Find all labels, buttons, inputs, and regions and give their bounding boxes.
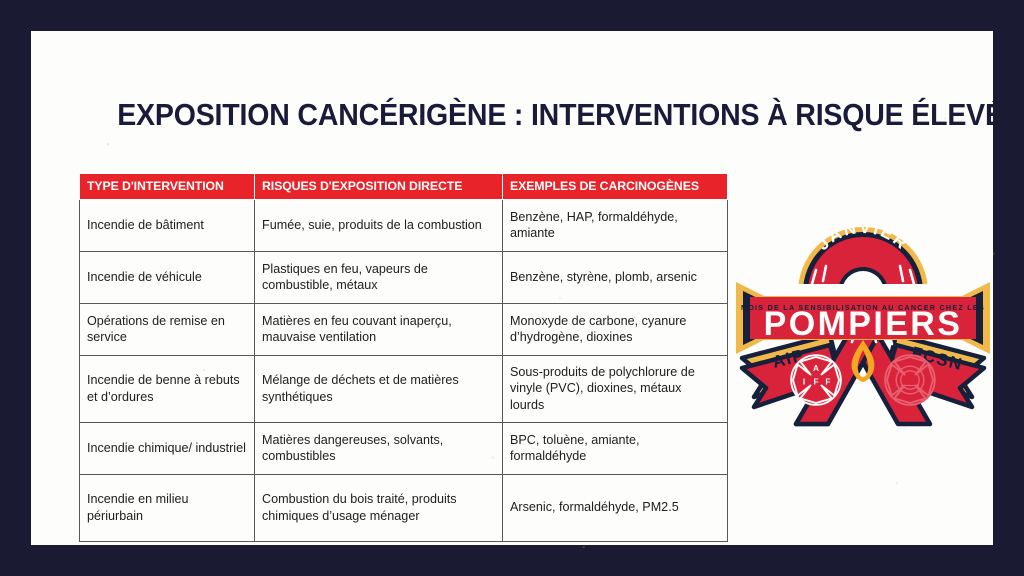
emblem-banner-main-text: POMPIERS — [764, 305, 963, 343]
cell-risques: Mélange de déchets et de matières synthé… — [255, 356, 503, 423]
cell-risques: Matières en feu couvant inaperçu, mauvai… — [255, 304, 503, 356]
cell-exemples: BPC, toluène, amiante, formaldéhyde — [503, 423, 728, 475]
iaff-badge-letter-f2: F — [825, 378, 830, 387]
table-header-row: TYPE D'INTERVENTION RISQUES D'EXPOSITION… — [80, 174, 728, 200]
table-row: Incendie en milieu périurbain Combustion… — [80, 475, 728, 542]
cell-risques: Plastiques en feu, vapeurs de combustibl… — [255, 252, 503, 304]
slide-card: EXPOSITION CANCÉRIGÈNE : INTERVENTIONS À… — [31, 31, 993, 545]
cell-type: Opérations de remise en service — [80, 304, 255, 356]
table-header: TYPE D'INTERVENTION RISQUES D'EXPOSITION… — [80, 174, 728, 200]
iaff-badge-letter-f1: F — [813, 378, 818, 387]
table-body: Incendie de bâtiment Fumée, suie, produi… — [80, 200, 728, 542]
risk-intervention-table: TYPE D'INTERVENTION RISQUES D'EXPOSITION… — [79, 173, 728, 542]
table-row: Opérations de remise en service Matières… — [80, 304, 728, 356]
cell-exemples: Monoxyde de carbone, cyanure d’hydrogène… — [503, 304, 728, 356]
table-row: Incendie de véhicule Plastiques en feu, … — [80, 252, 728, 304]
cell-risques: Combustion du bois traité, produits chim… — [255, 475, 503, 542]
pompiers-cancer-awareness-logo: JANVIER AIP FCSN — [734, 192, 992, 434]
cell-exemples: Sous-produits de polychlorure de vinyle … — [503, 356, 728, 423]
table-row: Incendie de bâtiment Fumée, suie, produi… — [80, 200, 728, 252]
cell-type: Incendie en milieu périurbain — [80, 475, 255, 542]
cell-type: Incendie chimique/ industriel — [80, 423, 255, 475]
table-row: Incendie de benne à rebuts et d’ordures … — [80, 356, 728, 423]
cell-type: Incendie de bâtiment — [80, 200, 255, 252]
cell-exemples: Benzène, HAP, formaldéhyde, amiante — [503, 200, 728, 252]
cell-type: Incendie de véhicule — [80, 252, 255, 304]
iaff-badge-icon: A I F F — [791, 355, 841, 405]
column-header-exemples: EXEMPLES DE CARCINOGÈNES — [503, 174, 728, 200]
cell-exemples: Benzène, styrène, plomb, arsenic — [503, 252, 728, 304]
cell-risques: Matières dangereuses, solvants, combusti… — [255, 423, 503, 475]
table-row: Incendie chimique/ industriel Matières d… — [80, 423, 728, 475]
column-header-risques: RISQUES D'EXPOSITION DIRECTE — [255, 174, 503, 200]
iaff-badge-letter-i: I — [803, 378, 805, 387]
cell-type: Incendie de benne à rebuts et d’ordures — [80, 356, 255, 423]
column-header-type: TYPE D'INTERVENTION — [80, 174, 255, 200]
iaff-badge-letter-a: A — [813, 364, 819, 373]
fcsn-badge-icon — [885, 355, 935, 405]
cell-risques: Fumée, suie, produits de la combustion — [255, 200, 503, 252]
page-title: EXPOSITION CANCÉRIGÈNE : INTERVENTIONS À… — [117, 97, 927, 133]
cell-exemples: Arsenic, formaldéhyde, PM2.5 — [503, 475, 728, 542]
